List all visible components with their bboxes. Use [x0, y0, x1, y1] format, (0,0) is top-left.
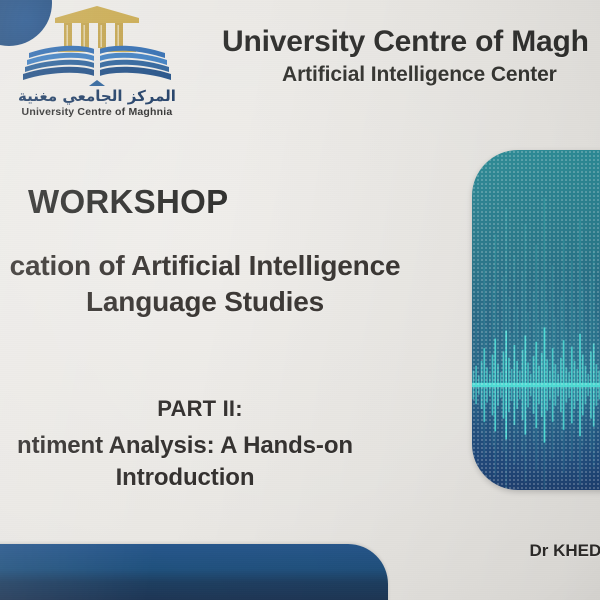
logo-mark — [22, 6, 172, 88]
main-title: cation of Artificial Intelligence Langua… — [0, 248, 455, 320]
part-label: PART II: — [0, 396, 440, 422]
audio-waveform-panel — [472, 150, 600, 490]
organization-title: University Centre of Magh — [222, 26, 600, 58]
decorative-bottom-band — [0, 544, 388, 600]
part-title: ntiment Analysis: A Hands-on Introductio… — [0, 430, 425, 494]
logo-latin-name: University Centre of Maghnia — [12, 106, 182, 118]
main-title-line-2: Language Studies — [0, 284, 455, 320]
part-title-line-1: ntiment Analysis: A Hands-on — [0, 430, 425, 462]
presenter-name: Dr KHEDI — [529, 541, 600, 561]
waveform-glow — [472, 150, 600, 490]
logo-arabic-name: المركز الجامعي مغنية — [12, 89, 182, 105]
part-title-line-2: Introduction — [0, 462, 425, 494]
main-title-line-1: cation of Artificial Intelligence — [0, 248, 455, 284]
slide-header: University Centre of Magh Artificial Int… — [222, 26, 600, 87]
presentation-slide-photo: المركز الجامعي مغنية University Centre o… — [0, 0, 600, 600]
university-logo: المركز الجامعي مغنية University Centre o… — [12, 6, 182, 118]
event-type-label: WORKSHOP — [28, 183, 228, 221]
department-subtitle: Artificial Intelligence Center — [222, 63, 600, 87]
open-book-icon — [23, 44, 171, 88]
